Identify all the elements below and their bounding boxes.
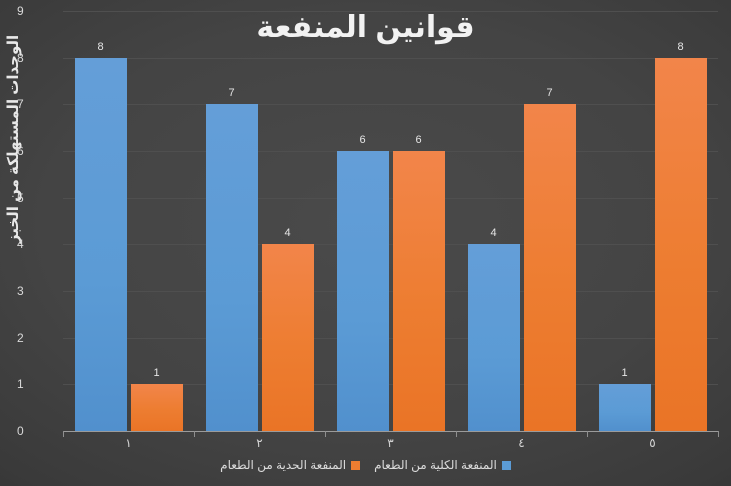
y-tick-label: 4 [17, 238, 57, 250]
gridline [63, 198, 718, 199]
y-tick-label: 8 [17, 52, 57, 64]
bar-value-label: 8 [655, 42, 707, 53]
bar-value-label: 1 [599, 368, 651, 379]
chart-container: قوانين المنفعة الوحدات المستهلكة من الخب… [0, 0, 731, 486]
y-tick-label: 5 [17, 192, 57, 204]
x-tickmark [587, 431, 588, 437]
gridline [63, 244, 718, 245]
x-tick-label: ٢ [230, 436, 290, 450]
x-axis-line [63, 431, 719, 432]
bar-value-label: 6 [393, 135, 445, 146]
bar-value-label: 4 [468, 228, 520, 239]
x-tick-label: ٣ [361, 436, 421, 450]
legend-label: المنفعة الكلية من الطعام [374, 458, 497, 472]
y-tick-label: 0 [17, 425, 57, 437]
plot-area: 8174664718 [63, 11, 718, 431]
x-tickmark [718, 431, 719, 437]
bar-total-5[interactable] [599, 384, 651, 431]
bar-value-label: 6 [337, 135, 389, 146]
bar-total-3[interactable] [337, 151, 389, 431]
gridline [63, 338, 718, 339]
y-tick-label: 2 [17, 332, 57, 344]
bar-total-1[interactable] [75, 58, 127, 431]
y-tick-label: 6 [17, 145, 57, 157]
x-tickmark [194, 431, 195, 437]
gridline [63, 11, 718, 12]
y-tick-label: 7 [17, 98, 57, 110]
bar-total-4[interactable] [468, 244, 520, 431]
legend-swatch-icon [502, 461, 511, 470]
x-tick-label: ٥ [623, 436, 683, 450]
bar-marginal-3[interactable] [393, 151, 445, 431]
y-tick-label: 1 [17, 378, 57, 390]
bar-value-label: 8 [75, 42, 127, 53]
x-tick-label: ٤ [492, 436, 552, 450]
x-tickmark [63, 431, 64, 437]
bar-total-2[interactable] [206, 104, 258, 431]
bar-marginal-2[interactable] [262, 244, 314, 431]
bar-value-label: 4 [262, 228, 314, 239]
x-tick-label: ١ [99, 436, 159, 450]
x-tickmark [456, 431, 457, 437]
bar-marginal-4[interactable] [524, 104, 576, 431]
bar-marginal-5[interactable] [655, 58, 707, 431]
bar-marginal-1[interactable] [131, 384, 183, 431]
bar-value-label: 7 [524, 88, 576, 99]
gridline [63, 151, 718, 152]
legend-swatch-icon [351, 461, 360, 470]
legend-item-marginal[interactable]: المنفعة الحدية من الطعام [220, 458, 360, 472]
gridline [63, 291, 718, 292]
x-tickmark [325, 431, 326, 437]
legend-label: المنفعة الحدية من الطعام [220, 458, 346, 472]
bar-value-label: 1 [131, 368, 183, 379]
gridline [63, 104, 718, 105]
chart-legend: المنفعة الكلية من الطعامالمنفعة الحدية م… [0, 458, 731, 472]
y-tick-label: 3 [17, 285, 57, 297]
gridline [63, 58, 718, 59]
bar-value-label: 7 [206, 88, 258, 99]
legend-item-total[interactable]: المنفعة الكلية من الطعام [374, 458, 511, 472]
y-tick-label: 9 [17, 5, 57, 17]
